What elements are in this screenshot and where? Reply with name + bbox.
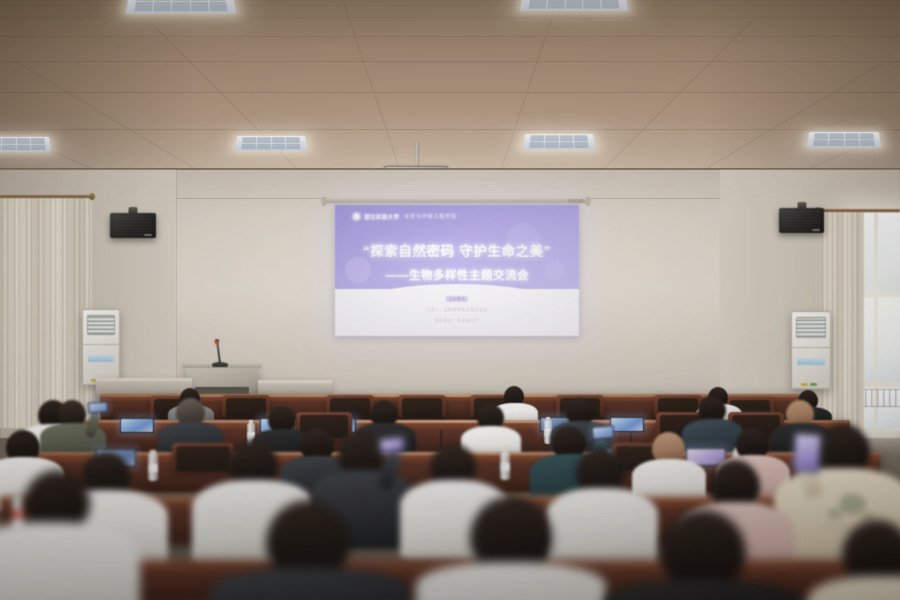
wall-seam — [176, 170, 177, 410]
ceiling-light-panel — [523, 134, 595, 149]
slide-meta-line: 主讲人：生物多样性主题交流会 — [335, 308, 579, 313]
projection-screen-roller — [322, 197, 590, 202]
ac-display-panel — [797, 358, 824, 365]
curtain-rod-right — [818, 209, 900, 212]
slide-university-name: 湖北民族大学 — [364, 213, 399, 221]
smartphone — [793, 433, 822, 473]
water-bottle — [148, 453, 158, 481]
ac-seam — [792, 347, 830, 348]
screen-bracket-left — [322, 197, 326, 206]
speaker-bracket — [797, 202, 806, 209]
ceiling-light-panel — [0, 137, 51, 152]
lecture-hall-photo: 湖北民族大学 化学与环境工程学院 “探索自然密码 守护生命之美” ——生物多样性… — [0, 0, 900, 600]
water-bottle — [500, 452, 510, 480]
ac-indicator — [801, 383, 808, 386]
slide-logo: 湖北民族大学 化学与环境工程学院 — [352, 212, 457, 221]
ceiling-light-panel — [126, 0, 236, 14]
chair-back — [222, 395, 270, 417]
desk-monitor — [120, 418, 154, 433]
table-edge — [258, 380, 332, 383]
speaker-badge — [812, 229, 820, 231]
slide-badge: 主办单位 — [446, 296, 468, 302]
curtain-rod-left — [0, 195, 92, 198]
ceiling-light-panel — [520, 0, 628, 11]
chair-back — [398, 395, 446, 417]
person-head — [660, 510, 746, 590]
slide-title: “探索自然密码 守护生命之美” — [335, 240, 579, 260]
ac-seam — [83, 344, 119, 345]
slide-department-name: 化学与环境工程学院 — [404, 213, 456, 220]
speaker-bracket — [129, 207, 138, 214]
slide-meta-line: 时间地点：学术报告厅 — [335, 319, 579, 324]
speaker-badge — [144, 234, 152, 236]
person-torso — [210, 568, 410, 600]
smartphone — [88, 401, 109, 413]
floor-ac-left — [82, 309, 120, 385]
projection-screen: 湖北民族大学 化学与环境工程学院 “探索自然密码 守护生命之美” ——生物多样性… — [335, 205, 579, 336]
chair-back — [172, 443, 234, 471]
desk-monitor — [610, 417, 644, 432]
slide-subtitle: ——生物多样性主题交流会 — [335, 267, 579, 283]
ceiling-shading — [0, 0, 900, 172]
ac-vent — [796, 317, 826, 337]
table-edge — [96, 378, 192, 381]
person-torso — [416, 562, 606, 600]
screen-bracket-right — [586, 197, 590, 206]
person-torso — [0, 522, 140, 600]
ceiling-light-panel — [235, 136, 307, 151]
smartphone — [379, 437, 404, 453]
speaker-grille — [783, 211, 820, 230]
curtain-left — [0, 196, 92, 428]
university-emblem-icon — [352, 212, 361, 221]
smartphone — [591, 425, 614, 440]
wall-speaker-right — [779, 208, 824, 233]
ceiling-light-panel — [807, 132, 881, 147]
speaker-grille — [114, 216, 152, 235]
ac-indicator — [810, 383, 817, 386]
wall-speaker-left — [110, 213, 156, 238]
ac-vent — [87, 315, 116, 335]
ceiling — [0, 0, 900, 172]
microphone-indicator — [215, 341, 218, 344]
ac-display-panel — [88, 355, 114, 362]
floor-ac-right — [791, 311, 831, 389]
